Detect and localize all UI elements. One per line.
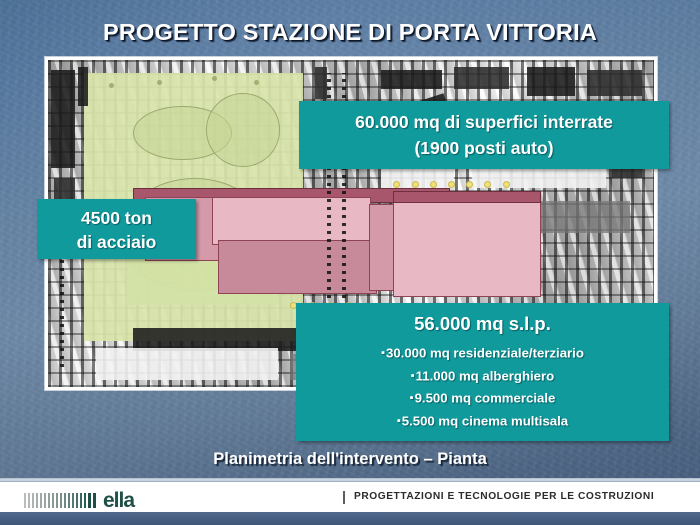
footer-bottom-band <box>0 512 700 525</box>
building-mass <box>393 194 540 297</box>
list-item-label: 11.000 mq alberghiero <box>416 368 555 383</box>
callout-line: 4500 ton <box>37 206 196 230</box>
list-item: ▪11.000 mq alberghiero <box>296 365 669 388</box>
list-item: ▪5.500 mq cinema multisala <box>296 410 669 433</box>
station-platform <box>96 348 278 381</box>
list-item-label: 9.500 mq commerciale <box>415 391 556 406</box>
city-block <box>381 70 442 90</box>
presentation-slide: PROGETTO STAZIONE DI PORTA VITTORIA <box>0 0 700 525</box>
callout-heading: 56.000 mq s.l.p. <box>296 310 669 338</box>
city-block <box>315 67 327 100</box>
building-mass <box>212 197 372 245</box>
company-logo: ella <box>24 490 134 511</box>
square-bullet-icon: ▪ <box>397 415 401 427</box>
slp-breakdown-list: ▪30.000 mq residenziale/terziario ▪11.00… <box>296 342 669 432</box>
tree-dot <box>109 83 114 88</box>
list-item: ▪9.500 mq commerciale <box>296 387 669 410</box>
tree-row-dot <box>448 181 455 188</box>
callout-line: 60.000 mq di superfici interrate <box>299 109 669 135</box>
building-mass <box>218 240 378 294</box>
page-title: PROGETTO STAZIONE DI PORTA VITTORIA <box>0 19 700 46</box>
tree-dot <box>157 80 162 85</box>
city-block <box>51 70 75 168</box>
footer-tagline: PROGETTAZIONI E TECNOLOGIE PER LE COSTRU… <box>354 491 654 502</box>
logo-wordmark: ella <box>103 490 134 511</box>
city-block <box>454 67 509 90</box>
tree-dot <box>212 76 217 81</box>
square-bullet-icon: ▪ <box>410 392 414 404</box>
footer-separator <box>343 491 345 504</box>
tree-row-dot <box>412 181 419 188</box>
tree-row-dot <box>503 181 510 188</box>
callout-line: (1900 posti auto) <box>299 135 669 161</box>
park-path <box>206 93 281 167</box>
slide-caption: Planimetria dell'intervento – Pianta <box>0 450 700 469</box>
callout-acciaio: 4500 ton di acciaio <box>37 199 196 259</box>
tree-row-dot <box>430 181 437 188</box>
list-item-label: 30.000 mq residenziale/terziario <box>386 346 584 361</box>
callout-line: di acciaio <box>37 230 196 254</box>
city-block <box>527 67 575 96</box>
city-block <box>587 70 642 96</box>
callout-slp: 56.000 mq s.l.p. ▪30.000 mq residenziale… <box>296 303 669 441</box>
paved-area <box>533 201 630 234</box>
square-bullet-icon: ▪ <box>381 347 385 359</box>
logo-bars-icon <box>24 493 98 508</box>
list-item: ▪30.000 mq residenziale/terziario <box>296 342 669 365</box>
square-bullet-icon: ▪ <box>411 370 415 382</box>
street-tree-row <box>60 256 64 367</box>
callout-superfici-interrate: 60.000 mq di superfici interrate (1900 p… <box>299 101 669 169</box>
city-block <box>78 67 88 106</box>
building-mass <box>393 191 540 203</box>
tree-dot <box>254 80 259 85</box>
list-item-label: 5.500 mq cinema multisala <box>402 413 568 428</box>
